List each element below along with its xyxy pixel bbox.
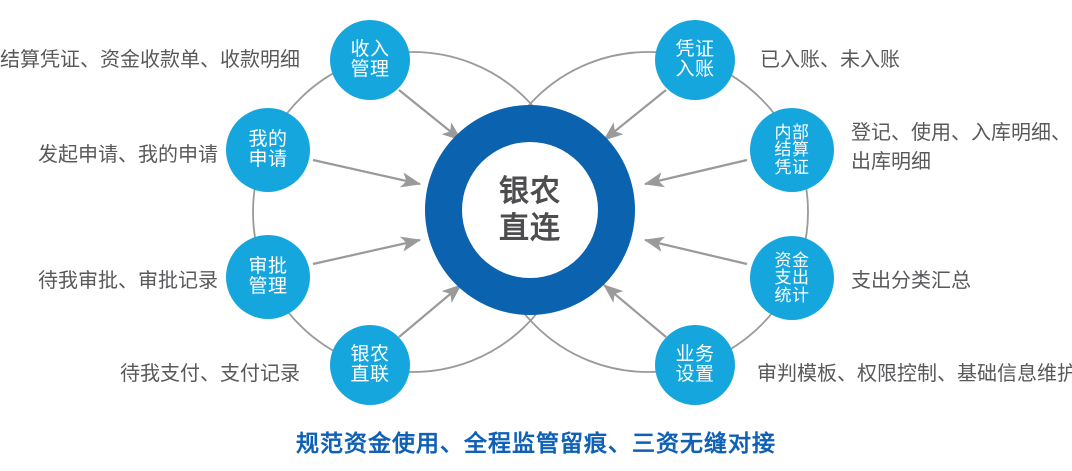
diagram-canvas: 银农 直连 收入 管理我的 申请审批 管理银农 直联凭证 入账内部 结算 凭证资… [0, 0, 1072, 471]
node-business-settings[interactable]: 业务 设置 [655, 325, 735, 405]
label-my-application-detail: 发起申请、我的申请 [0, 141, 218, 170]
arrow-my-application [313, 160, 420, 184]
node-expenditure-statistics[interactable]: 资金 支出 统计 [750, 236, 834, 320]
node-label-voucher-posting: 凭证 入账 [675, 40, 714, 80]
node-bank-rural-direct[interactable]: 银农 直联 [330, 325, 410, 405]
node-voucher-posting[interactable]: 凭证 入账 [655, 20, 735, 100]
node-label-my-application: 我的 申请 [248, 130, 287, 170]
center-ring: 银农 直连 [425, 105, 635, 315]
label-bank-rural-direct-detail: 待我支付、支付记录 [0, 360, 300, 389]
arrow-voucher-posting [604, 90, 666, 140]
label-expenditure-statistics-detail: 支出分类汇总 [851, 267, 1072, 296]
label-voucher-posting-detail: 已入账、未入账 [760, 46, 1060, 75]
node-label-internal-settlement: 内部 结算 凭证 [775, 124, 810, 176]
node-label-business-settings: 业务 设置 [675, 345, 714, 385]
center-label: 银农 直连 [499, 173, 561, 248]
arrow-expenditure-statistics [645, 240, 747, 264]
node-income-management[interactable]: 收入 管理 [330, 20, 410, 100]
node-label-bank-rural-direct: 银农 直联 [350, 345, 389, 385]
center-ring-hole: 银农 直连 [462, 142, 598, 278]
label-income-management-detail: 结算凭证、资金收款单、收款明细 [0, 46, 300, 75]
node-label-approval-management: 审批 管理 [248, 257, 287, 297]
label-business-settings-detail: 审判模板、权限控制、基础信息维护 [757, 360, 1072, 389]
arrow-internal-settlement [645, 160, 747, 184]
arrow-income-management [399, 90, 461, 140]
node-my-application[interactable]: 我的 申请 [226, 108, 310, 192]
arrow-approval-management [313, 240, 420, 264]
arrow-business-settings [604, 285, 666, 337]
node-label-income-management: 收入 管理 [350, 40, 389, 80]
node-internal-settlement[interactable]: 内部 结算 凭证 [750, 108, 834, 192]
node-label-expenditure-statistics: 资金 支出 统计 [775, 252, 810, 304]
arrow-bank-rural-direct [399, 285, 461, 337]
diagram-caption: 规范资金使用、全程监管留痕、三资无缝对接 [0, 424, 1072, 458]
label-approval-management-detail: 待我审批、审批记录 [0, 267, 218, 296]
node-approval-management[interactable]: 审批 管理 [226, 235, 310, 319]
label-internal-settlement-detail: 登记、使用、入库明细、 出库明细 [851, 119, 1072, 177]
